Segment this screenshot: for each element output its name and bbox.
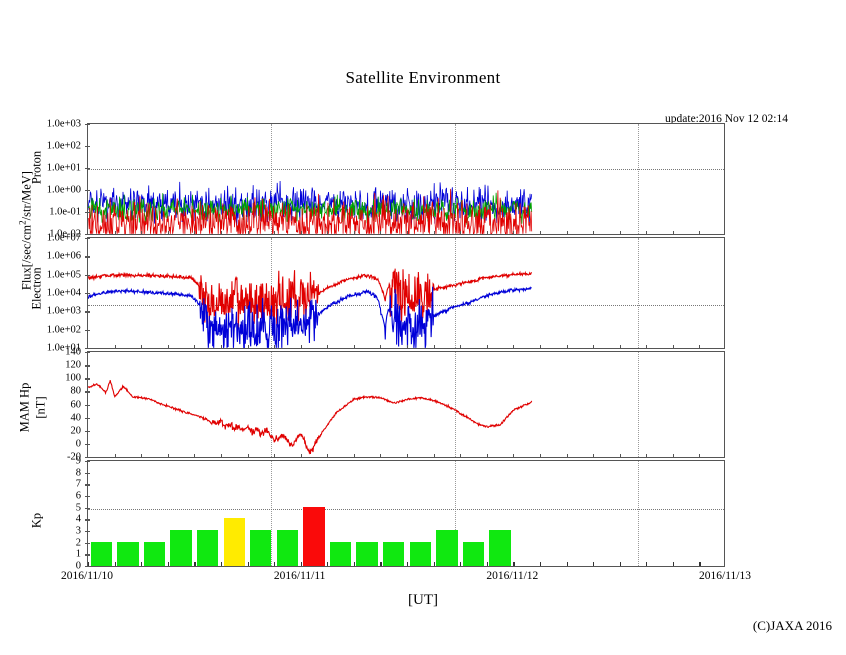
y-tick-mark (85, 168, 90, 169)
y-tick-mark (85, 238, 90, 239)
kp-bar (250, 530, 271, 566)
x-tick-mark (487, 345, 488, 348)
y-tick-label: 3 (76, 526, 85, 537)
x-tick-mark (540, 345, 541, 348)
y-tick-label: 1.0e+03 (47, 306, 85, 317)
y-tick-label: 1.0e+01 (47, 163, 85, 174)
x-tick-mark (434, 231, 435, 234)
x-tick-mark (354, 562, 355, 566)
panel-proton (87, 123, 725, 235)
x-tick-mark (567, 231, 568, 234)
x-tick-mark (194, 454, 195, 457)
kp-bar (356, 542, 377, 566)
x-tick-mark (248, 562, 249, 566)
y-tick-label: 1.0e+05 (47, 269, 85, 280)
y-tick-mark (85, 531, 90, 532)
y-tick-mark (85, 405, 90, 406)
x-tick-mark (115, 231, 116, 234)
y-tick-mark (85, 190, 90, 191)
x-tick-mark (460, 345, 461, 348)
kp-bar (383, 542, 404, 566)
x-tick-mark (567, 345, 568, 348)
page-title: Satellite Environment (0, 68, 846, 88)
y-tick-mark (85, 566, 90, 567)
kp-bar (197, 530, 218, 566)
kp-bar (224, 518, 245, 566)
x-tick-mark (620, 454, 621, 457)
x-tick-mark (620, 345, 621, 348)
x-tick-mark (567, 562, 568, 566)
x-tick-mark (274, 562, 275, 566)
y-tick-mark (85, 234, 90, 235)
copyright-notice: (C)JAXA 2016 (600, 618, 832, 634)
satellite-environment-plot: Satellite Environment update:2016 Nov 12… (0, 0, 846, 655)
x-tick-mark (115, 454, 116, 457)
kp-bar (91, 542, 112, 566)
x-tick-mark (354, 345, 355, 348)
y-tick-label: 0 (76, 438, 85, 449)
x-tick-mark (567, 454, 568, 457)
x-tick-mark (407, 562, 408, 566)
kp-bar-series (88, 461, 724, 566)
kp-y-ticks: 9876543210 (0, 460, 85, 567)
y-tick-label: 1.0e+02 (47, 324, 85, 335)
x-tick-mark (699, 231, 700, 234)
x-tick-mark (194, 231, 195, 234)
x-tick-label: 2016/11/10 (61, 570, 113, 582)
x-tick-mark (646, 562, 647, 566)
x-tick-mark (274, 231, 275, 234)
y-tick-label: 1.0e-01 (49, 207, 85, 218)
x-tick-mark (434, 345, 435, 348)
electron-traces (88, 238, 724, 348)
x-tick-mark (141, 562, 142, 566)
x-tick-mark (513, 231, 514, 234)
y-tick-mark (85, 431, 90, 432)
kp-bar (410, 542, 431, 566)
kp-bar (330, 542, 351, 566)
x-tick-mark (540, 562, 541, 566)
x-tick-mark (168, 345, 169, 348)
y-tick-mark (85, 391, 90, 392)
kp-bar (117, 542, 138, 566)
x-tick-mark (434, 454, 435, 457)
y-tick-label: 100 (65, 373, 85, 384)
y-tick-label: 80 (71, 386, 86, 397)
x-tick-mark (168, 454, 169, 457)
x-tick-mark (487, 454, 488, 457)
y-tick-mark (85, 212, 90, 213)
x-tick-mark (115, 562, 116, 566)
panel-kp (87, 460, 725, 567)
x-tick-mark (221, 562, 222, 566)
y-tick-label: 20 (71, 425, 86, 436)
y-tick-label: 4 (76, 514, 85, 525)
y-tick-mark (85, 519, 90, 520)
x-tick-mark (248, 454, 249, 457)
y-tick-mark (85, 330, 90, 331)
y-tick-mark (85, 473, 90, 474)
panel-mam-hp (87, 351, 725, 458)
mam-hp-trace (88, 352, 724, 457)
x-tick-mark (487, 562, 488, 566)
y-tick-mark (85, 461, 90, 462)
kp-bar (436, 530, 457, 566)
x-tick-mark (141, 345, 142, 348)
kp-bar (303, 507, 324, 566)
x-tick-mark (168, 231, 169, 234)
x-tick-mark (407, 454, 408, 457)
x-tick-mark (380, 345, 381, 348)
x-tick-mark (699, 345, 700, 348)
y-tick-mark (85, 256, 90, 257)
y-tick-label: 1.0e+02 (47, 141, 85, 152)
y-tick-label: 8 (76, 467, 85, 478)
x-tick-mark (593, 231, 594, 234)
x-tick-mark (301, 231, 302, 234)
y-tick-label: 9 (76, 456, 85, 467)
x-tick-mark (380, 562, 381, 566)
x-tick-mark (380, 231, 381, 234)
x-tick-mark (646, 345, 647, 348)
x-tick-mark (380, 454, 381, 457)
y-tick-mark (85, 365, 90, 366)
x-tick-mark (673, 231, 674, 234)
y-tick-mark (85, 275, 90, 276)
x-tick-mark (327, 231, 328, 234)
kp-bar (170, 530, 191, 566)
kp-bar (463, 542, 484, 566)
y-tick-label: 2 (76, 537, 85, 548)
kp-bar (277, 530, 298, 566)
x-tick-mark (327, 345, 328, 348)
x-tick-mark (646, 231, 647, 234)
kp-bar (489, 530, 510, 566)
proton-y-ticks: 1.0e+031.0e+021.0e+011.0e+001.0e-011.0e-… (0, 123, 85, 235)
x-tick-mark (673, 562, 674, 566)
x-tick-mark (460, 562, 461, 566)
y-tick-mark (85, 378, 90, 379)
electron-y-ticks: 1.0e+071.0e+061.0e+051.0e+041.0e+031.0e+… (0, 237, 85, 349)
x-tick-mark (194, 562, 195, 566)
x-axis-title: [UT] (0, 592, 846, 609)
x-tick-mark (460, 231, 461, 234)
y-tick-label: 1.0e+07 (47, 233, 85, 244)
x-tick-mark (513, 345, 514, 348)
proton-traces (88, 124, 724, 234)
y-tick-mark (85, 311, 90, 312)
x-tick-mark (301, 454, 302, 457)
x-tick-mark (487, 231, 488, 234)
y-tick-label: 6 (76, 491, 85, 502)
x-tick-mark (593, 562, 594, 566)
x-tick-mark (248, 345, 249, 348)
y-tick-mark (85, 348, 90, 349)
x-tick-mark (221, 345, 222, 348)
y-tick-label: 1 (76, 549, 85, 560)
y-tick-mark (85, 444, 90, 445)
x-tick-mark (407, 345, 408, 348)
x-tick-mark (274, 454, 275, 457)
y-tick-mark (85, 124, 90, 125)
x-tick-mark (115, 345, 116, 348)
y-tick-mark (85, 293, 90, 294)
x-tick-mark (593, 345, 594, 348)
series-mam-hp-trace (88, 380, 532, 454)
x-tick-mark (168, 562, 169, 566)
x-tick-mark (434, 562, 435, 566)
x-tick-mark (540, 231, 541, 234)
x-tick-mark (221, 454, 222, 457)
y-tick-mark (85, 418, 90, 419)
y-tick-mark (85, 508, 90, 509)
x-tick-mark (699, 562, 700, 566)
x-tick-mark (620, 562, 621, 566)
y-tick-mark (85, 457, 90, 458)
y-tick-mark (85, 496, 90, 497)
x-tick-mark (301, 345, 302, 348)
x-tick-mark (673, 454, 674, 457)
x-tick-mark (327, 562, 328, 566)
y-tick-mark (85, 352, 90, 353)
y-tick-mark (85, 554, 90, 555)
x-tick-mark (141, 454, 142, 457)
y-tick-mark (85, 146, 90, 147)
y-tick-label: 1.0e+04 (47, 288, 85, 299)
y-tick-mark (85, 484, 90, 485)
y-tick-label: 1.0e+03 (47, 119, 85, 130)
x-tick-mark (593, 454, 594, 457)
y-tick-label: 7 (76, 479, 85, 490)
y-tick-label: 140 (65, 347, 85, 358)
x-tick-mark (646, 454, 647, 457)
x-tick-mark (274, 345, 275, 348)
y-tick-label: 1.0e+00 (47, 185, 85, 196)
x-tick-mark (513, 454, 514, 457)
x-tick-mark (327, 454, 328, 457)
y-tick-label: 120 (65, 360, 85, 371)
y-tick-label: 40 (71, 412, 86, 423)
y-tick-label: 1.0e+06 (47, 251, 85, 262)
x-tick-mark (513, 562, 514, 566)
x-tick-mark (354, 231, 355, 234)
x-tick-mark (699, 454, 700, 457)
y-tick-label: 60 (71, 399, 86, 410)
x-tick-mark (460, 454, 461, 457)
x-tick-label: 2016/11/12 (486, 570, 538, 582)
panel-electron (87, 237, 725, 349)
x-tick-label: 2016/11/11 (274, 570, 326, 582)
x-tick-mark (673, 345, 674, 348)
y-tick-mark (85, 543, 90, 544)
kp-bar (144, 542, 165, 566)
x-tick-mark (620, 231, 621, 234)
x-tick-mark (194, 345, 195, 348)
x-tick-mark (301, 562, 302, 566)
x-tick-mark (221, 231, 222, 234)
x-tick-mark (354, 454, 355, 457)
y-tick-label: 5 (76, 502, 85, 513)
x-tick-mark (141, 231, 142, 234)
x-tick-mark (407, 231, 408, 234)
x-tick-mark (248, 231, 249, 234)
x-tick-mark (540, 454, 541, 457)
mam-hp-y-ticks: 140120100806040200-20 (0, 351, 85, 458)
x-tick-label: 2016/11/13 (699, 570, 751, 582)
